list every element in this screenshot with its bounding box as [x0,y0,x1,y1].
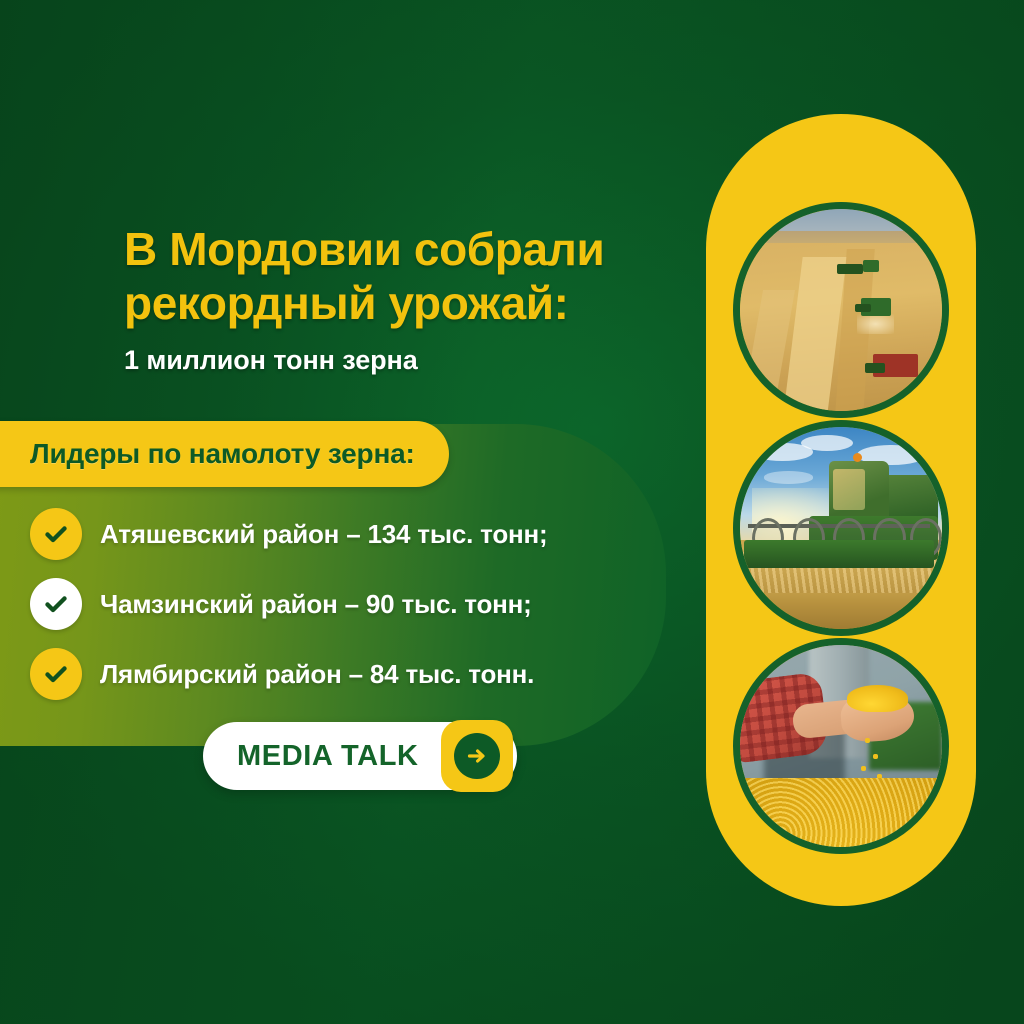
list-item-label: Чамзинский район – 90 тыс. тонн; [100,589,532,620]
media-talk-label: MEDIA TALK [237,740,419,773]
check-icon [30,508,82,560]
check-icon [30,578,82,630]
subheadline: 1 миллион тонн зерна [124,345,418,376]
check-icon [30,648,82,700]
headline-block: В Мордовии собрали рекордный урожай: [124,222,664,331]
list-item: Лямбирский район – 84 тыс. тонн. [30,648,630,700]
media-talk-arrow-box[interactable] [441,720,513,792]
list-item: Чамзинский район – 90 тыс. тонн; [30,578,630,630]
photo-hands-with-grain [733,638,949,854]
headline-line-1: В Мордовии собрали [124,222,664,276]
list-item-label: Лямбирский район – 84 тыс. тонн. [100,659,534,690]
list-item: Атяшевский район – 134 тыс. тонн; [30,508,630,560]
media-talk-button[interactable]: MEDIA TALK [203,722,517,790]
arrow-right-icon [454,733,500,779]
photo-wheat-field-aerial [733,202,949,418]
photo-combine-harvester [733,420,949,636]
headline-line-2: рекордный урожай: [124,276,664,330]
list-item-label: Атяшевский район – 134 тыс. тонн; [100,519,547,550]
infographic-poster: В Мордовии собрали рекордный урожай: 1 м… [0,0,1024,1024]
leaders-banner: Лидеры по намолоту зерна: [0,421,449,487]
photo-capsule [706,114,976,906]
leaders-list: Атяшевский район – 134 тыс. тонн; Чамзин… [30,508,630,718]
leaders-banner-title: Лидеры по намолоту зерна: [30,438,415,470]
